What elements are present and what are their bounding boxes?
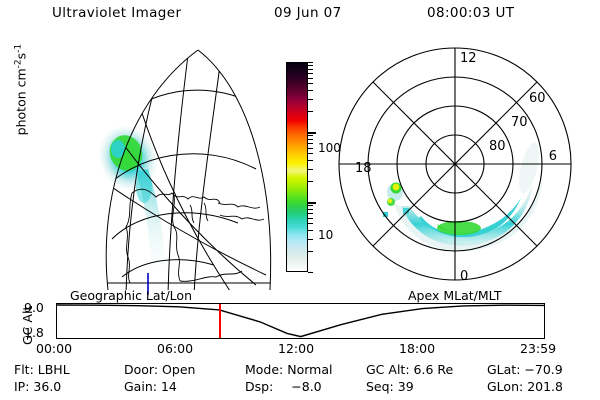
mlt-label-0: 0 (460, 269, 468, 284)
timeline-y-tick-1-8: 1.8 (24, 325, 44, 340)
left-panel-title: Geographic Lat/Lon (70, 288, 192, 303)
colorbar-axis-title: photon cm-2s-1 (13, 15, 28, 165)
status-label-glat: GLat: (487, 362, 520, 377)
mlt-label-6: 6 (549, 149, 557, 164)
mlat-label-80: 80 (489, 139, 506, 154)
status-label-seq: Seq: (366, 379, 394, 394)
timeline-plot[interactable] (56, 303, 545, 339)
colorbar-gradient (287, 63, 307, 271)
status-label-flt: Flt: (14, 362, 34, 377)
status-field-glon: GLon: 201.8 (487, 379, 563, 394)
status-value-gain: 14 (161, 379, 177, 394)
status-label-gain: Gain: (124, 379, 157, 394)
status-field-mode: Mode: Normal (245, 362, 333, 377)
geographic-image-panel (70, 45, 275, 295)
status-value-glon: 201.8 (527, 379, 563, 394)
mlt-label-18: 18 (355, 161, 372, 176)
colorbar-axis-exp-1: -2 (13, 59, 23, 68)
status-label-ip: IP: (14, 379, 29, 394)
colorbar-axis-title-mid: s (14, 53, 29, 60)
colorbar (286, 62, 308, 272)
status-field-door: Door: Open (124, 362, 195, 377)
status-label-mode: Mode: (245, 362, 283, 377)
status-label-dsp: Dsp: (245, 379, 273, 394)
timeline-x-tick-1: 06:00 (157, 341, 193, 356)
mlat-label-70: 70 (511, 115, 528, 130)
timeline-x-tick-4: 23:59 (520, 341, 556, 356)
gc-altitude-curve (57, 304, 544, 338)
right-panel-title: Apex MLat/MLT (408, 288, 502, 303)
observation-date: 09 Jun 07 (274, 5, 342, 21)
status-value-mode: Normal (287, 362, 332, 377)
timeline-y-tick-9: 9.0 (24, 300, 44, 315)
mlt-label-12: 12 (460, 51, 477, 66)
colorbar-ticks (308, 62, 316, 272)
status-value-seq: 39 (398, 379, 414, 394)
colorbar-axis-exp-2: -1 (13, 44, 23, 53)
apex-mlat-mlt-panel: 12 6 0 18 60 70 80 (333, 42, 578, 294)
header: Ultraviolet Imager 09 Jun 07 08:00:03 UT (0, 5, 600, 27)
status-value-flt: LBHL (38, 362, 70, 377)
status-value-glat: −70.9 (524, 362, 562, 377)
colorbar-axis-title-text: photon cm (14, 68, 29, 135)
mlt-spokes (339, 48, 571, 280)
colorbar-tick-label-10: 10 (318, 228, 333, 242)
timeline-x-tick-2: 12:00 (278, 341, 314, 356)
timeline-x-tick-0: 00:00 (36, 341, 72, 356)
status-field-gain: Gain: 14 (124, 379, 177, 394)
status-field-gcalt: GC Alt: 6.6 Re (366, 362, 453, 377)
status-field-ip: IP: 36.0 (14, 379, 61, 394)
status-bar: Flt: LBHL Door: Open Mode: Normal GC Alt… (0, 362, 600, 400)
status-field-glat: GLat: −70.9 (487, 362, 563, 377)
observation-time: 08:00:03 UT (427, 5, 514, 21)
instrument-title: Ultraviolet Imager (52, 5, 181, 21)
status-value-gcalt: 6.6 Re (414, 362, 454, 377)
status-label-glon: GLon: (487, 379, 523, 394)
timeline-current-time-marker[interactable] (219, 304, 221, 338)
status-field-seq: Seq: 39 (366, 379, 414, 394)
uvi-summary-plot: Ultraviolet Imager 09 Jun 07 08:00:03 UT (0, 0, 600, 400)
status-label-door: Door: (124, 362, 158, 377)
mlat-label-60: 60 (529, 91, 546, 106)
status-value-dsp: −8.0 (277, 379, 321, 394)
status-label-gcalt: GC Alt: (366, 362, 410, 377)
status-value-ip: 36.0 (33, 379, 61, 394)
timeline-x-tick-3: 18:00 (399, 341, 435, 356)
status-value-door: Open (162, 362, 195, 377)
status-field-dsp: Dsp: −8.0 (245, 379, 322, 394)
status-field-flt: Flt: LBHL (14, 362, 70, 377)
